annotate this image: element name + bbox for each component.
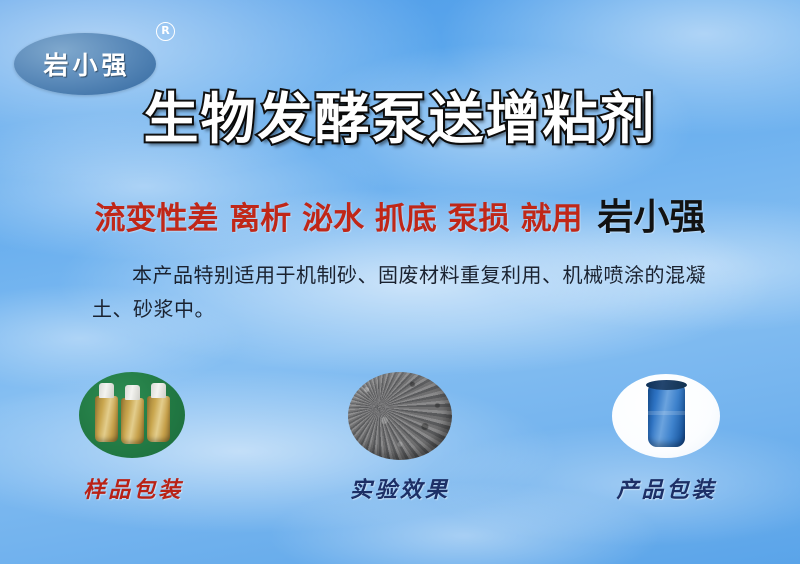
gallery-caption: 产品包装 [616,472,716,504]
sample-bottle [121,398,144,444]
concrete-mortar-photo [346,372,454,462]
gallery-caption: 实验效果 [350,472,450,504]
product-description: 本产品特别适用于机制砂、固废材料重复利用、机械喷涂的混凝土、砂浆中。 [92,258,712,326]
white-disc-backdrop [612,374,720,458]
sample-bottle [147,396,170,442]
registered-trademark-icon: R [156,22,175,41]
sample-bottle [95,396,118,442]
page-title: 生物发酵泵送增粘剂 [0,74,800,154]
gallery-item-product-packaging: 产品包装 [533,372,800,504]
slogan-problems: 流变性差 离析 泌水 抓底 泵损 就用 [95,201,583,237]
gallery-caption: 样品包装 [83,472,183,504]
sample-bottles-photo [79,372,187,462]
blue-drum-photo [612,372,720,462]
concrete-disc-backdrop [348,372,452,460]
slogan-brand: 岩小强 [597,197,705,238]
blue-drum [648,385,685,447]
gallery-item-sample-packaging: 样品包装 [0,372,267,504]
gallery-item-test-result: 实验效果 [267,372,534,504]
green-disc-backdrop [79,372,185,458]
product-gallery: 样品包装 实验效果 产品包装 [0,372,800,504]
promo-banner: 岩小强 R 生物发酵泵送增粘剂 流变性差 离析 泌水 抓底 泵损 就用岩小强 本… [0,0,800,564]
slogan-line: 流变性差 离析 泌水 抓底 泵损 就用岩小强 [0,188,800,240]
